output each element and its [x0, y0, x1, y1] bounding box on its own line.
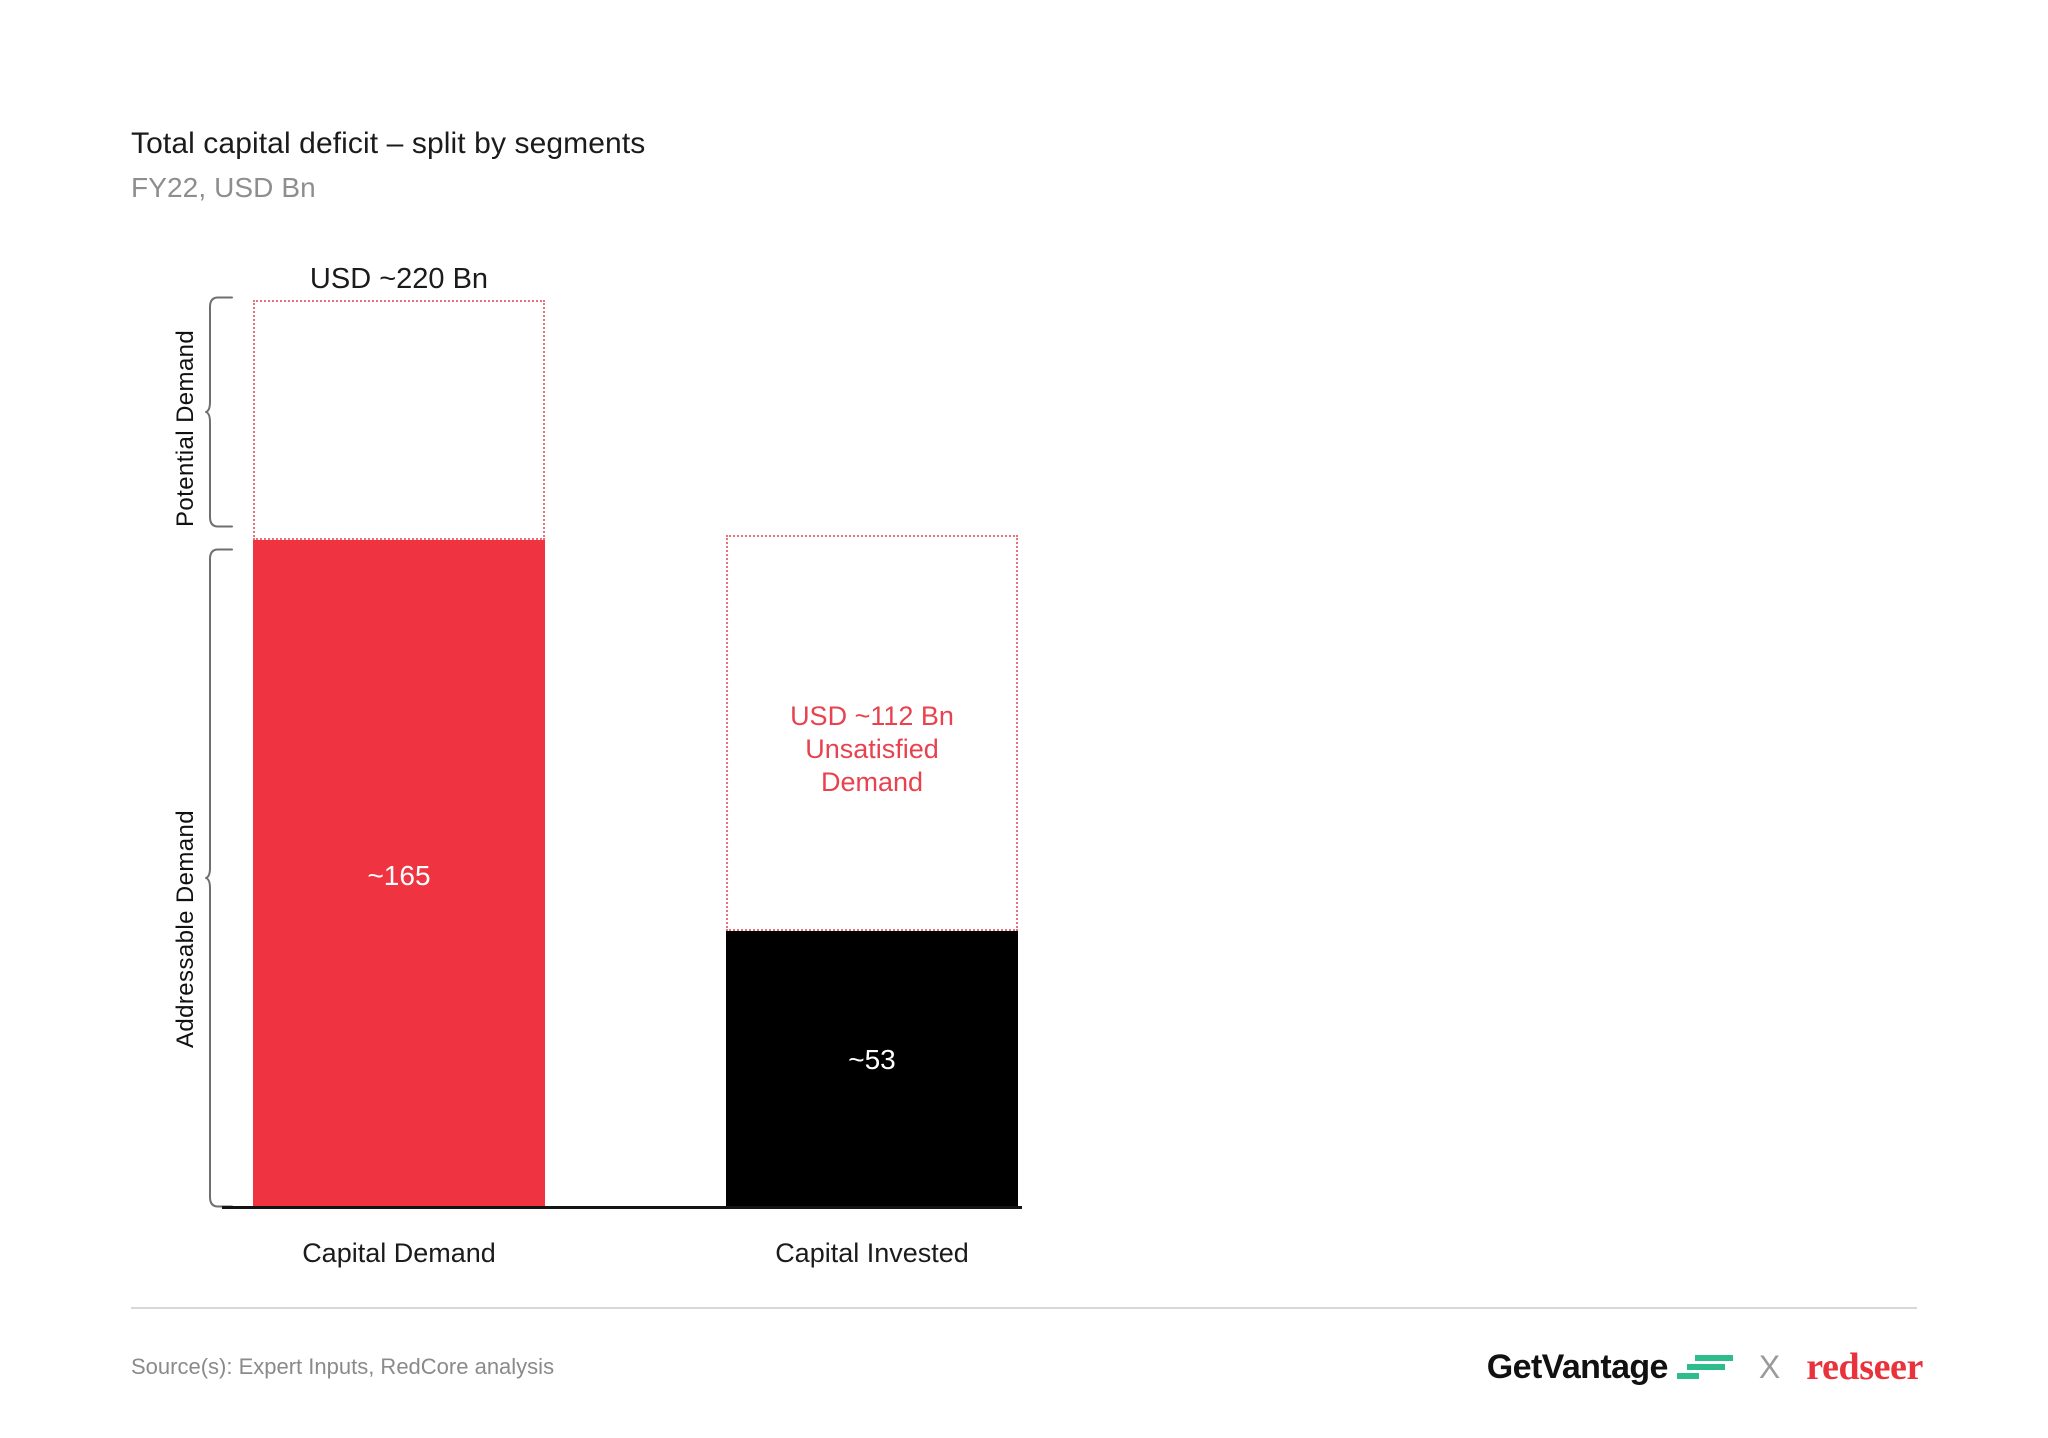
redseer-logo: redseer	[1806, 1345, 1923, 1389]
chart-plot-area: Potential Demand Addressable Demand USD …	[0, 0, 2048, 1438]
getvantage-wordmark: GetVantage	[1487, 1348, 1668, 1387]
logo-separator-x: X	[1759, 1349, 1780, 1386]
footer-source-text: Source(s): Expert Inputs, RedCore analys…	[131, 1354, 554, 1380]
gap-annotation-line2: Unsatisfied	[726, 733, 1018, 766]
axis-label-capital-demand: Capital Demand	[253, 1238, 545, 1269]
bar2-gap-annotation: USD ~112 Bn Unsatisfied Demand	[726, 700, 1018, 799]
bar1-potential-outline	[253, 300, 545, 540]
bar1-value-label: ~165	[253, 860, 545, 892]
slide-canvas: Total capital deficit – split by segment…	[0, 0, 2048, 1438]
gap-annotation-line1: USD ~112 Bn	[726, 700, 1018, 733]
axis-label-capital-invested: Capital Invested	[726, 1238, 1018, 1269]
segment-label-addressable-demand: Addressable Demand	[172, 810, 200, 1048]
axis-baseline	[222, 1206, 1022, 1209]
footer-logos: GetVantage X redseer	[1487, 1345, 1923, 1389]
getvantage-logo: GetVantage	[1487, 1348, 1733, 1387]
bracket-potential-demand	[205, 296, 233, 528]
bar2-value-label: ~53	[726, 1044, 1018, 1076]
bracket-addressable-demand	[205, 548, 233, 1208]
segment-label-potential-demand: Potential Demand	[172, 330, 200, 527]
bar1-total-label: USD ~220 Bn	[253, 263, 545, 296]
getvantage-speedlines-icon	[1677, 1350, 1733, 1384]
gap-annotation-line3: Demand	[726, 766, 1018, 799]
footer-divider	[131, 1307, 1917, 1309]
